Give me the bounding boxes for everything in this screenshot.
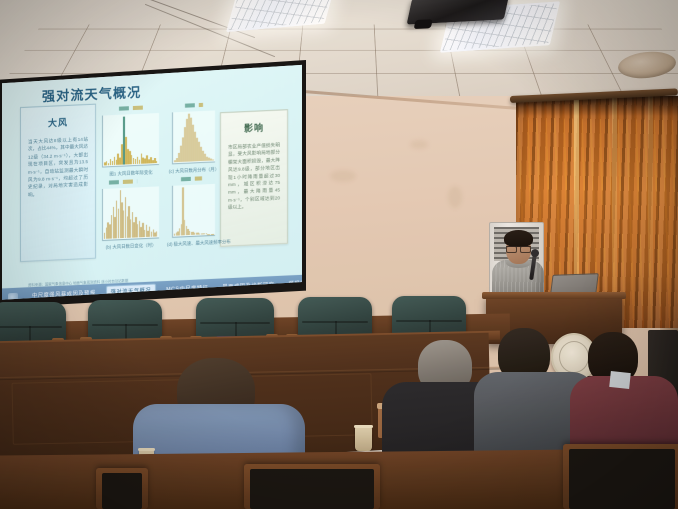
speaker-glasses-icon	[506, 246, 531, 251]
paper-cup-right[interactable]	[355, 427, 372, 451]
foreground-chair-right[interactable]	[563, 444, 678, 509]
foreground-chair-far-left[interactable]	[96, 468, 148, 509]
speaker-hair	[504, 230, 533, 247]
slide-textbox-wind: 大风 当天大风达8级以上有14站次，占比44%，其中最大风达12级（34.2 m…	[20, 104, 96, 262]
projection-screen: 强对流天气概况 大风 当天大风达8级以上有14站次，占比44%，其中最大风达12…	[2, 63, 302, 301]
chart-bar	[212, 160, 214, 161]
chart-bar	[156, 231, 157, 236]
slide-chart-4: (d) 极大风速、最大风速频率分布	[172, 184, 215, 238]
wall-mark	[330, 170, 356, 182]
slide-title: 强对流天气概况	[42, 81, 141, 105]
wall-mark	[410, 140, 428, 149]
presentation-slide: 强对流天气概况 大风 当天大风达8级以上有14站次，占比44%，其中最大风达12…	[2, 63, 302, 301]
slide-textbox-impact-body: 市区局部农业产值损失明显，受大风影响局地部分棚架大面积损毁，最大阵风达9.8级，…	[221, 133, 287, 218]
slide-chart-2-caption: (c) 大风日数月分布（月）	[167, 166, 221, 175]
wall-mark	[448, 186, 462, 208]
chair-row-seat-2[interactable]	[88, 300, 162, 342]
audience-maroon-collar	[609, 371, 631, 389]
chart-bar	[212, 233, 213, 234]
chart-bar	[156, 161, 158, 164]
slide-chart-1: 图1 大风日数年际变化	[102, 113, 159, 168]
slide-chart-3-caption: (b) 大风日数日变化（时）	[97, 242, 165, 251]
slide-chart-1-caption: 图1 大风日数年际变化	[97, 169, 165, 178]
slide-textbox-wind-body: 当天大风达8级以上有14站次，占比44%，其中最大风达12级（34.2 m·s⁻…	[21, 127, 95, 205]
slide-chart-3: (b) 大风日数日变化（时）	[102, 186, 159, 241]
chair-row-seat-3[interactable]	[196, 298, 274, 340]
conference-room-photo: 强对流天气概况 大风 当天大风达8级以上有14站次，占比44%，其中最大风达12…	[0, 0, 678, 509]
slide-textbox-impact: 影响 市区局部农业产值损失明显，受大风影响局地部分棚架大面积损毁，最大阵风达9.…	[220, 109, 288, 247]
slide-chart-2: (c) 大风日数月分布（月）	[172, 110, 215, 164]
foreground-chair-left[interactable]	[244, 464, 380, 509]
slide-chart-4-caption: (d) 极大风速、最大风速频率分布	[167, 240, 221, 249]
